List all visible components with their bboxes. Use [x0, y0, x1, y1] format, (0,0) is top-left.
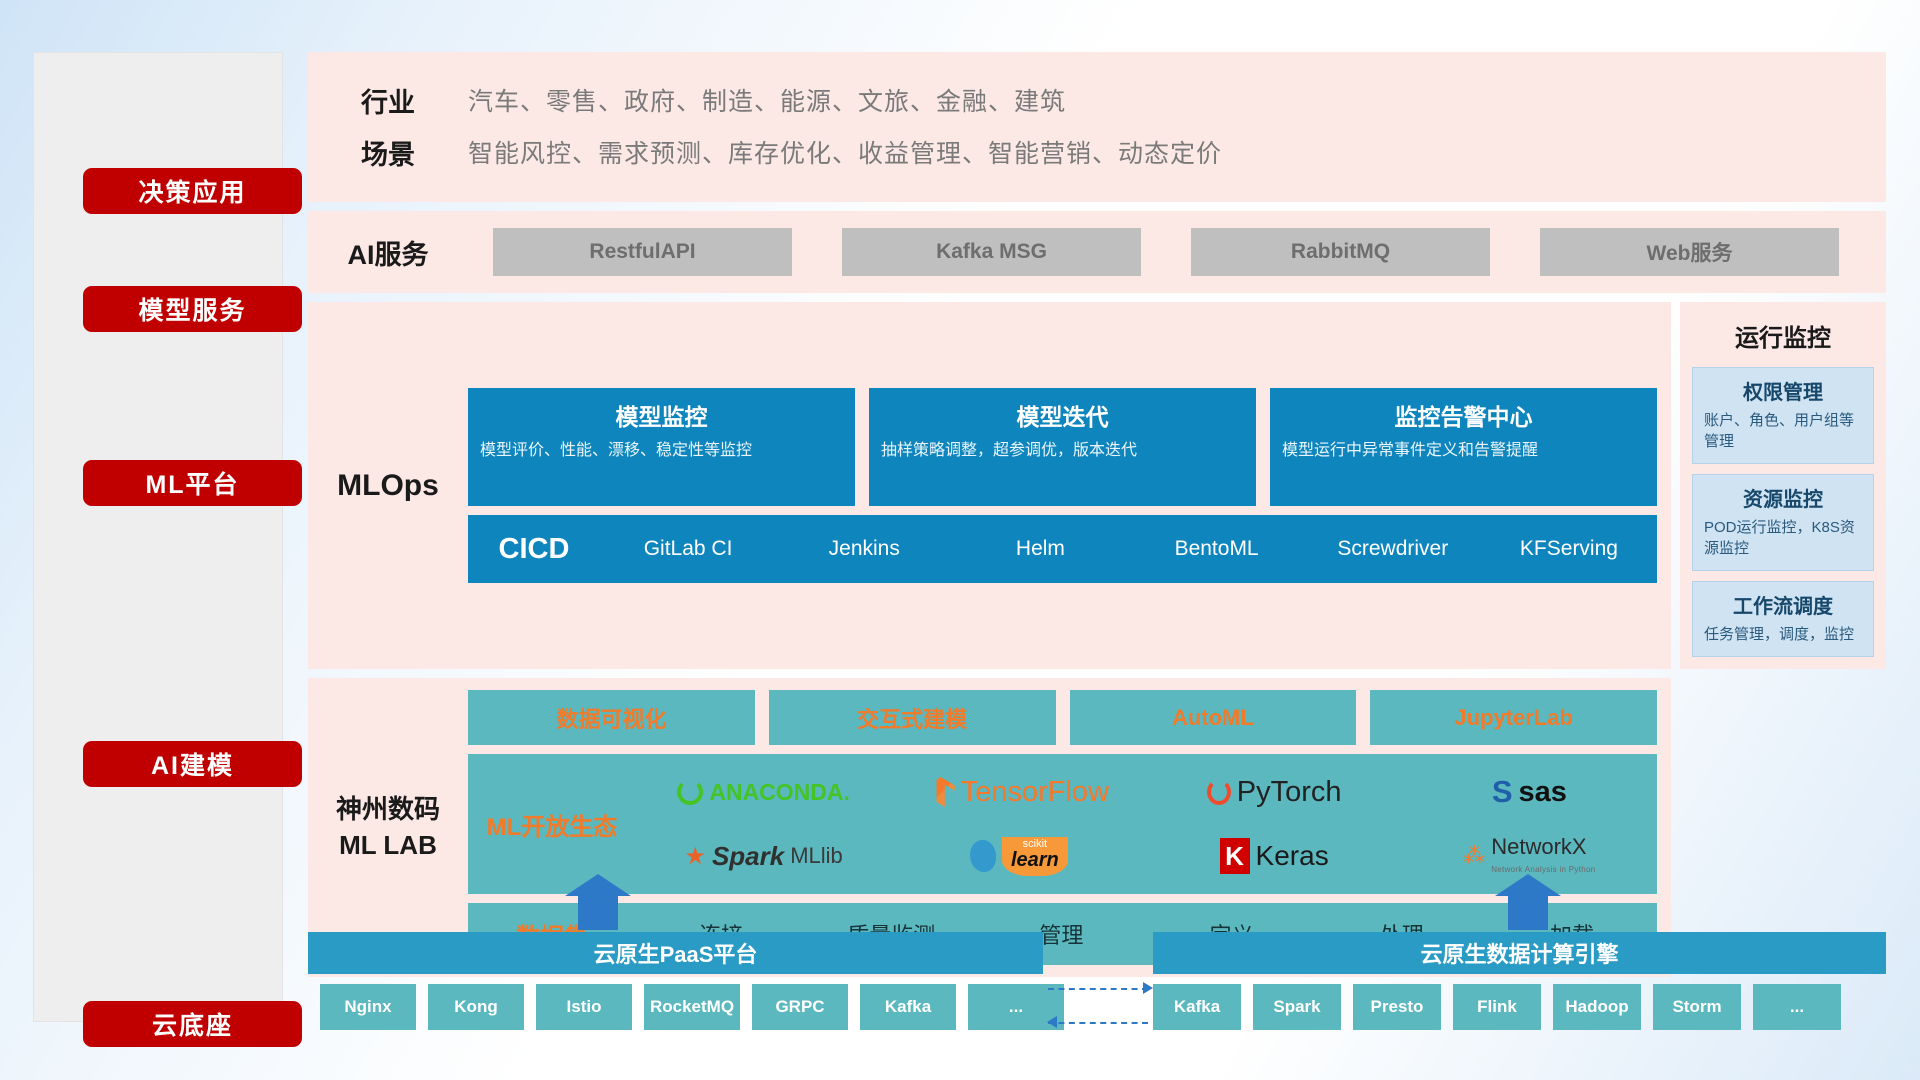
- card-title: 资源监控: [1704, 483, 1862, 512]
- rail-item-ai-modeling[interactable]: AI建模: [83, 741, 302, 787]
- architecture-diagram: 决策应用 模型服务 ML平台 AI建模 云底座 行业 汽车、零售、政府、制造、能…: [0, 0, 1920, 1080]
- rail-item-cloud-base[interactable]: 云底座: [83, 1001, 302, 1047]
- pytorch-flame-icon: [1207, 779, 1231, 805]
- monitor-card-permissions[interactable]: 权限管理 账户、角色、用户组等管理: [1692, 367, 1874, 464]
- spark-wordmark: Spark: [712, 841, 784, 872]
- monitor-card-resources[interactable]: 资源监控 POD运行监控，K8S资源监控: [1692, 474, 1874, 571]
- paas-chip-kong[interactable]: Kong: [428, 984, 524, 1030]
- scenario-row: 场景 智能风控、需求预测、库存优化、收益管理、智能营销、动态定价: [308, 126, 1886, 178]
- cloud-base-band: 云原生PaaS平台 云原生数据计算引擎 Nginx Kong Istio Roc…: [308, 880, 1886, 1030]
- networkx-tagline: Network Analysis in Python: [1491, 865, 1595, 874]
- card-desc: 模型运行中异常事件定义和告警提醒: [1282, 439, 1645, 462]
- card-desc: 模型评价、性能、漂移、稳定性等监控: [480, 439, 843, 462]
- mlops-card-model-monitoring[interactable]: 模型监控 模型评价、性能、漂移、稳定性等监控: [468, 388, 855, 506]
- decision-applications-band: 行业 汽车、零售、政府、制造、能源、文旅、金融、建筑 场景 智能风控、需求预测、…: [308, 52, 1886, 202]
- compute-chip-hadoop[interactable]: Hadoop: [1553, 984, 1641, 1030]
- arrow-up-paas-icon: [578, 894, 618, 930]
- card-desc: 账户、角色、用户组等管理: [1704, 410, 1862, 452]
- feature-interactive-modeling[interactable]: 交互式建模: [769, 690, 1056, 745]
- cicd-label: CICD: [468, 533, 600, 566]
- card-title: 监控告警中心: [1282, 398, 1645, 432]
- tensorflow-wordmark: TensorFlow: [961, 776, 1109, 809]
- anaconda-wordmark: ANACONDA.: [709, 779, 850, 806]
- ml-lab-label-line2: ML LAB: [308, 828, 468, 863]
- mlops-content: 模型监控 模型评价、性能、漂移、稳定性等监控 模型迭代 抽样策略调整，超参调优，…: [468, 388, 1671, 583]
- scikit-learn-logo: scikit learn: [891, 824, 1146, 888]
- paas-chip-istio[interactable]: Istio: [536, 984, 632, 1030]
- paas-chip-grpc[interactable]: GRPC: [752, 984, 848, 1030]
- pytorch-wordmark: PyTorch: [1237, 776, 1342, 809]
- paas-chip-kafka[interactable]: Kafka: [860, 984, 956, 1030]
- ml-lab-feature-row: 数据可视化 交互式建模 AutoML JupyterLab: [468, 690, 1657, 745]
- cicd-tool-bentoml[interactable]: BentoML: [1129, 537, 1305, 561]
- rail-item-ml-platform[interactable]: ML平台: [83, 460, 302, 506]
- pytorch-logo: PyTorch: [1147, 760, 1402, 824]
- arrow-left-icon: [1047, 1016, 1057, 1028]
- mlops-card-model-iteration[interactable]: 模型迭代 抽样策略调整，超参调优，版本迭代: [869, 388, 1256, 506]
- mlops-card-row: 模型监控 模型评价、性能、漂移、稳定性等监控 模型迭代 抽样策略调整，超参调优，…: [468, 388, 1657, 506]
- ai-service-kafka-msg[interactable]: Kafka MSG: [842, 228, 1141, 276]
- compute-chip-kafka[interactable]: Kafka: [1153, 984, 1241, 1030]
- ai-service-rabbitmq[interactable]: RabbitMQ: [1191, 228, 1490, 276]
- mlops-section: MLOps 模型监控 模型评价、性能、漂移、稳定性等监控 模型迭代 抽样策略调整…: [308, 302, 1671, 669]
- compute-chip-storm[interactable]: Storm: [1653, 984, 1741, 1030]
- ml-platform-band: MLOps 模型监控 模型评价、性能、漂移、稳定性等监控 模型迭代 抽样策略调整…: [308, 302, 1886, 669]
- mlops-label: MLOps: [308, 469, 468, 503]
- compute-chip-spark[interactable]: Spark: [1253, 984, 1341, 1030]
- dashed-line-left: [1048, 1022, 1148, 1024]
- cicd-row: CICD GitLab CI Jenkins Helm BentoML Scre…: [468, 515, 1657, 583]
- card-title: 模型迭代: [881, 398, 1244, 432]
- card-desc: 抽样策略调整，超参调优，版本迭代: [881, 439, 1244, 462]
- card-desc: POD运行监控，K8S资源监控: [1704, 517, 1862, 559]
- paas-chip-row: Nginx Kong Istio RocketMQ GRPC Kafka ...: [320, 984, 1064, 1030]
- cicd-tool-helm[interactable]: Helm: [952, 537, 1128, 561]
- rail-item-decision-apps[interactable]: 决策应用: [83, 168, 302, 214]
- industry-label: 行业: [308, 81, 468, 120]
- cicd-tool-screwdriver[interactable]: Screwdriver: [1305, 537, 1481, 561]
- dashed-line-right: [1048, 988, 1148, 990]
- learn-word: learn: [1011, 849, 1059, 871]
- anaconda-logo: ANACONDA.: [636, 760, 891, 824]
- cicd-tool-gitlab-ci[interactable]: GitLab CI: [600, 537, 776, 561]
- paas-chip-nginx[interactable]: Nginx: [320, 984, 416, 1030]
- sas-swoosh-icon: S: [1492, 774, 1513, 810]
- compute-chip-flink[interactable]: Flink: [1453, 984, 1541, 1030]
- ai-service-label: AI服务: [308, 233, 468, 272]
- main-column: 行业 汽车、零售、政府、制造、能源、文旅、金融、建筑 场景 智能风控、需求预测、…: [308, 52, 1886, 977]
- spark-star-icon: ★: [684, 842, 706, 871]
- arrow-right-icon: [1143, 982, 1153, 994]
- arrow-up-compute-icon: [1508, 894, 1548, 930]
- ml-lab-label-line1: 神州数码: [308, 792, 468, 827]
- scenario-values: 智能风控、需求预测、库存优化、收益管理、智能营销、动态定价: [468, 134, 1222, 170]
- rail-item-model-service[interactable]: 模型服务: [83, 286, 302, 332]
- keras-k-icon: K: [1220, 838, 1250, 874]
- ai-service-band: AI服务 RestfulAPI Kafka MSG RabbitMQ Web服务: [308, 211, 1886, 293]
- keras-wordmark: Keras: [1256, 840, 1329, 872]
- spark-mllib-logo: ★ Spark MLlib: [636, 824, 891, 888]
- networkx-wordmark: NetworkX: [1491, 834, 1586, 859]
- cicd-tool-jenkins[interactable]: Jenkins: [776, 537, 952, 561]
- scenario-label: 场景: [308, 133, 468, 172]
- ai-service-restfulapi[interactable]: RestfulAPI: [493, 228, 792, 276]
- anaconda-ring-icon: [677, 779, 703, 805]
- ai-service-list: RestfulAPI Kafka MSG RabbitMQ Web服务: [468, 228, 1886, 276]
- paas-platform-bar[interactable]: 云原生PaaS平台: [308, 932, 1043, 974]
- feature-jupyterlab[interactable]: JupyterLab: [1370, 690, 1657, 745]
- runtime-monitor-panel: 运行监控 权限管理 账户、角色、用户组等管理 资源监控 POD运行监控，K8S资…: [1680, 302, 1886, 669]
- mllib-wordmark: MLlib: [790, 843, 843, 869]
- cicd-tool-kfserving[interactable]: KFServing: [1481, 537, 1657, 561]
- industry-values: 汽车、零售、政府、制造、能源、文旅、金融、建筑: [468, 82, 1066, 118]
- ml-ecosystem-row: ML开放生态 ANACONDA.: [468, 754, 1657, 894]
- networkx-graph-icon: ⁂: [1463, 843, 1485, 869]
- card-desc: 任务管理，调度，监控: [1704, 624, 1862, 645]
- ml-ecosystem-label: ML开放生态: [468, 807, 636, 842]
- tensorflow-mark-icon: [929, 777, 955, 807]
- keras-logo: K Keras: [1147, 824, 1402, 888]
- sas-logo: S sas: [1402, 760, 1657, 824]
- card-title: 权限管理: [1704, 376, 1862, 405]
- layer-rail: 决策应用 模型服务 ML平台 AI建模 云底座: [33, 52, 283, 1022]
- industry-row: 行业 汽车、零售、政府、制造、能源、文旅、金融、建筑: [308, 74, 1886, 126]
- runtime-monitor-title: 运行监控: [1692, 312, 1874, 357]
- tensorflow-logo: TensorFlow: [891, 760, 1146, 824]
- bidirectional-link: [1048, 988, 1152, 1034]
- compute-chip-presto[interactable]: Presto: [1353, 984, 1441, 1030]
- ml-lab-label: 神州数码 ML LAB: [308, 792, 468, 862]
- feature-automl[interactable]: AutoML: [1070, 690, 1357, 745]
- card-title: 工作流调度: [1704, 590, 1862, 619]
- sas-wordmark: sas: [1519, 776, 1567, 809]
- ai-service-web[interactable]: Web服务: [1540, 228, 1839, 276]
- card-title: 模型监控: [480, 398, 843, 432]
- compute-engine-bar[interactable]: 云原生数据计算引擎: [1153, 932, 1886, 974]
- scikit-pill-icon: scikit learn: [1002, 837, 1068, 876]
- feature-data-visualization[interactable]: 数据可视化: [468, 690, 755, 745]
- compute-chip-row: Kafka Spark Presto Flink Hadoop Storm ..…: [1153, 984, 1841, 1030]
- scikit-blob-icon: [970, 840, 996, 872]
- ml-ecosystem-logos: ANACONDA. TensorFlow: [636, 760, 1657, 888]
- monitor-card-workflow[interactable]: 工作流调度 任务管理，调度，监控: [1692, 581, 1874, 657]
- compute-chip-more[interactable]: ...: [1753, 984, 1841, 1030]
- paas-chip-rocketmq[interactable]: RocketMQ: [644, 984, 740, 1030]
- mlops-card-alert-center[interactable]: 监控告警中心 模型运行中异常事件定义和告警提醒: [1270, 388, 1657, 506]
